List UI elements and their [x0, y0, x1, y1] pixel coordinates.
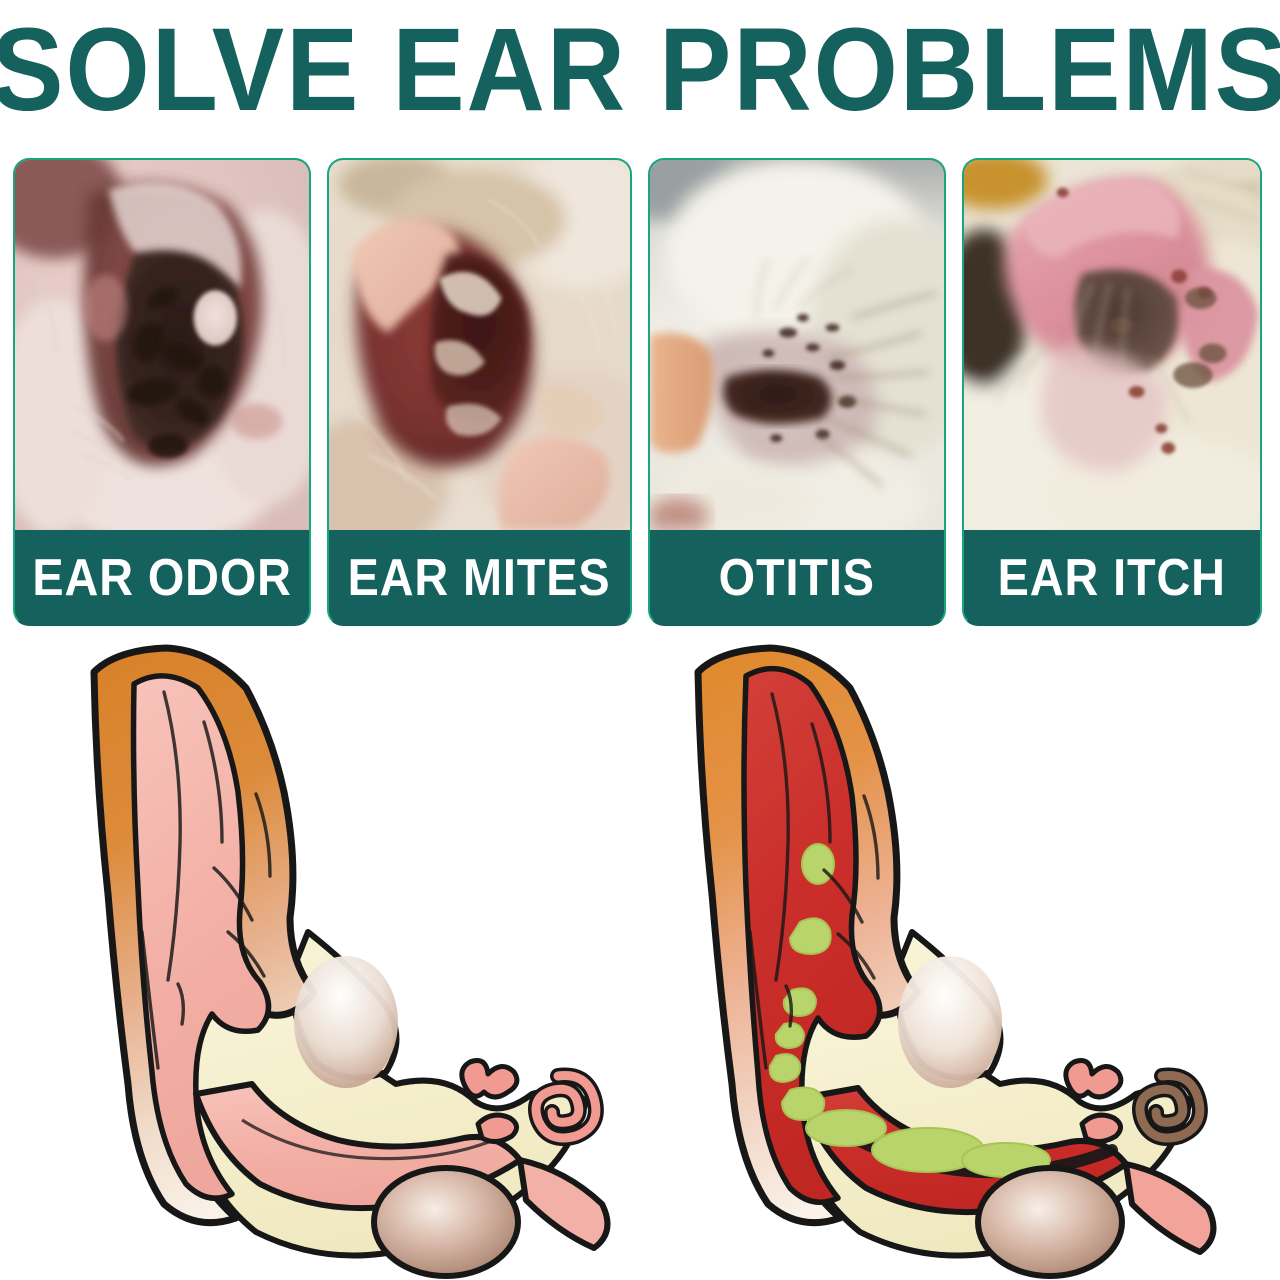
card-label-ear-mites: EAR MITES — [329, 531, 630, 624]
normal-ear-canal-diagram — [46, 632, 646, 1280]
card-label-ear-odor: EAR ODOR — [15, 531, 309, 624]
card-label-ear-itch: EAR ITCH — [964, 531, 1260, 624]
condition-card-ear-odor[interactable]: EAR ODOR — [13, 158, 311, 626]
condition-card-otitis[interactable]: OTITIS — [648, 158, 946, 626]
ear-mites-photo — [329, 160, 630, 535]
card-label-otitis: OTITIS — [650, 531, 944, 624]
poster-root: SOLVE EAR PROBLEMS — [0, 0, 1280, 1280]
condition-card-row: EAR ODOR — [0, 158, 1280, 628]
page-title: SOLVE EAR PROBLEMS — [51, 14, 1229, 126]
infected-ear-canal-diagram — [650, 632, 1250, 1280]
anatomy-comparison-row: normal ear canal Infection of the ear ca… — [0, 632, 1280, 1280]
ear-itch-photo — [964, 160, 1260, 535]
ear-odor-photo — [15, 160, 309, 535]
condition-card-ear-itch[interactable]: EAR ITCH — [962, 158, 1262, 626]
condition-card-ear-mites[interactable]: EAR MITES — [327, 158, 632, 626]
otitis-photo — [650, 160, 944, 535]
